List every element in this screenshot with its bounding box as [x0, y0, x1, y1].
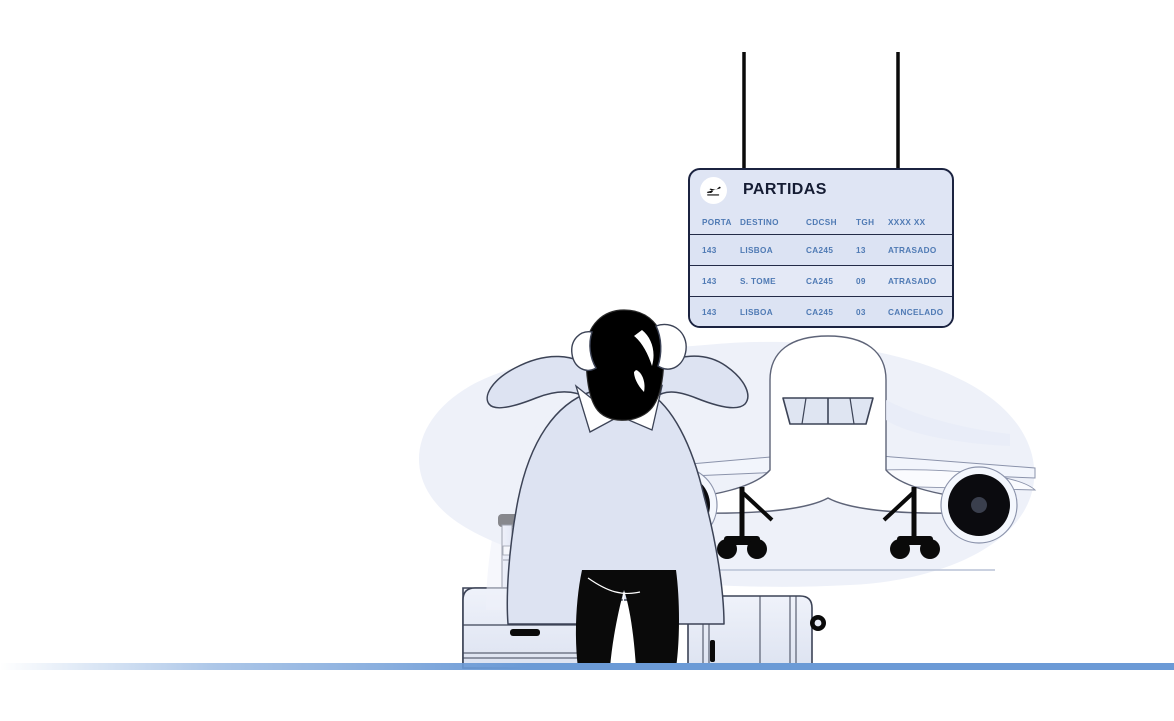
- cell-tgh: 03: [856, 297, 888, 328]
- cell-destino: S. TOME: [740, 266, 806, 297]
- departures-table: PORTA DESTINO CDCSH TGH XXXX XX 143 LISB…: [690, 210, 954, 327]
- scene-artwork: [0, 0, 1174, 721]
- table-row: 143 LISBOA CA245 03 CANCELADO: [690, 297, 954, 328]
- column-header-tgh: TGH: [856, 210, 888, 235]
- engine-right: [941, 467, 1017, 543]
- cell-tgh: 13: [856, 235, 888, 266]
- cell-cdcsh: CA245: [806, 235, 856, 266]
- board-title: PARTIDAS: [743, 181, 827, 199]
- status-badge: ATRASADO: [888, 266, 954, 297]
- column-header-status: XXXX XX: [888, 210, 954, 235]
- table-row: 143 S. TOME CA245 09 ATRASADO: [690, 266, 954, 297]
- cell-cdcsh: CA245: [806, 297, 856, 328]
- table-row: 143 LISBOA CA245 13 ATRASADO: [690, 235, 954, 266]
- status-badge: CANCELADO: [888, 297, 954, 328]
- departing-plane-icon: [700, 177, 727, 204]
- column-header-destino: DESTINO: [740, 210, 806, 235]
- illustration-scene: PARTIDAS PORTA DESTINO CDCSH TGH XXXX XX…: [0, 0, 1174, 721]
- cell-porta: 143: [690, 235, 740, 266]
- board-header: PARTIDAS: [690, 170, 952, 210]
- cell-cdcsh: CA245: [806, 266, 856, 297]
- cell-porta: 143: [690, 266, 740, 297]
- cell-porta: 143: [690, 297, 740, 328]
- column-header-cdcsh: CDCSH: [806, 210, 856, 235]
- status-badge: ATRASADO: [888, 235, 954, 266]
- ground-line: [0, 663, 1174, 670]
- cell-destino: LISBOA: [740, 235, 806, 266]
- cell-tgh: 09: [856, 266, 888, 297]
- column-header-porta: PORTA: [690, 210, 740, 235]
- cell-destino: LISBOA: [740, 297, 806, 328]
- departures-board: PARTIDAS PORTA DESTINO CDCSH TGH XXXX XX…: [688, 168, 954, 328]
- table-header-row: PORTA DESTINO CDCSH TGH XXXX XX: [690, 210, 954, 235]
